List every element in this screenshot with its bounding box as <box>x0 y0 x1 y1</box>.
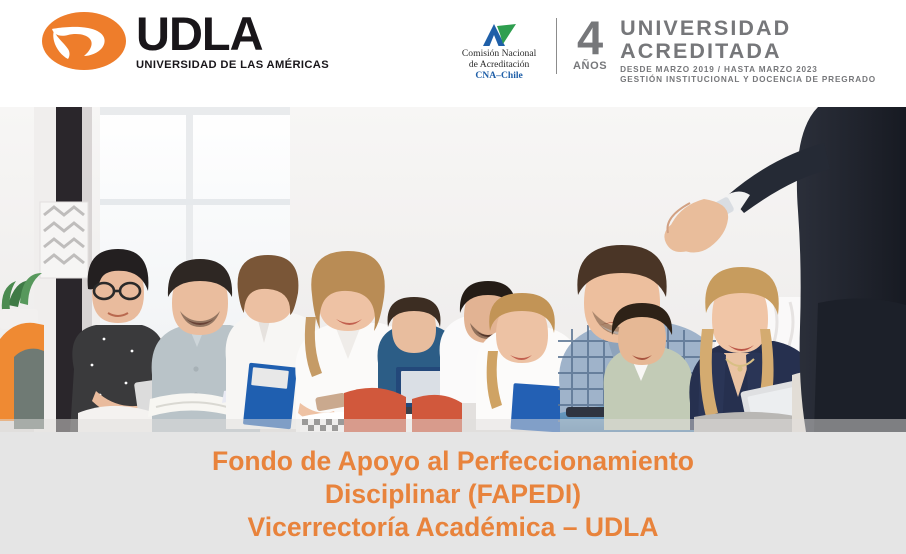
udla-tagline: UNIVERSIDAD DE LAS AMÉRICAS <box>136 59 312 71</box>
accreditation-detail-2: GESTIÓN INSTITUCIONAL Y DOCENCIA DE PREG… <box>620 75 876 85</box>
years-label: AÑOS <box>568 60 612 73</box>
header-bar: UDLA UNIVERSIDAD DE LAS AMÉRICAS Comisió… <box>0 0 906 107</box>
accreditation-headline-2: ACREDITADA <box>620 40 876 63</box>
udla-logo: UDLA UNIVERSIDAD DE LAS AMÉRICAS <box>42 10 312 71</box>
footer-band: Fondo de Apoyo al Perfeccionamiento Disc… <box>0 432 906 554</box>
udla-wordmark-text: UDLA <box>136 10 312 57</box>
title-line-2: Disciplinar (FAPEDI) <box>0 478 906 511</box>
cna-block: Comisión Nacional de Acreditación CNA–Ch… <box>453 16 545 81</box>
cna-chile-logo-icon <box>453 20 545 48</box>
years-block: 4 AÑOS <box>568 16 612 73</box>
years-number: 4 <box>568 16 612 60</box>
cna-line-2: de Acreditación <box>453 59 545 70</box>
badge-divider <box>556 18 557 74</box>
slide-title: Fondo de Apoyo al Perfeccionamiento Disc… <box>0 445 906 544</box>
udla-swoosh-icon <box>42 11 126 71</box>
accreditation-detail-1: DESDE MARZO 2019 / HASTA MARZO 2023 <box>620 65 876 75</box>
title-line-3: Vicerrectoría Académica – UDLA <box>0 511 906 544</box>
presentation-slide: UDLA UNIVERSIDAD DE LAS AMÉRICAS Comisió… <box>0 0 906 554</box>
accreditation-badge: Comisión Nacional de Acreditación CNA–Ch… <box>453 16 876 82</box>
udla-wordmark: UDLA UNIVERSIDAD DE LAS AMÉRICAS <box>136 10 312 71</box>
cna-line-3: CNA–Chile <box>453 70 545 81</box>
accreditation-text: UNIVERSIDAD ACREDITADA DESDE MARZO 2019 … <box>620 16 876 85</box>
cna-line-1: Comisión Nacional <box>453 48 545 59</box>
accreditation-headline-1: UNIVERSIDAD <box>620 17 876 40</box>
classroom-audience-photo <box>0 107 906 432</box>
title-line-1: Fondo de Apoyo al Perfeccionamiento <box>0 445 906 478</box>
